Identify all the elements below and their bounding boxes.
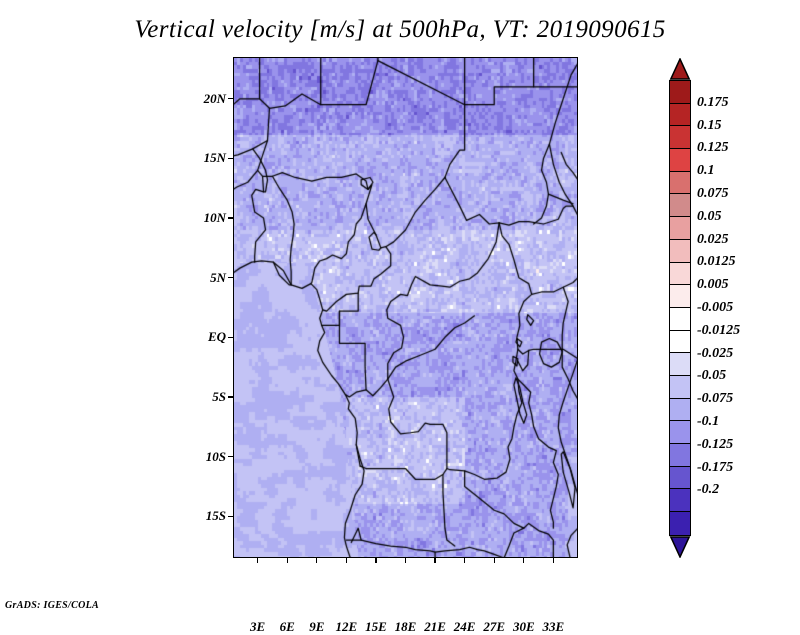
colorbar-band [670,512,690,535]
colorbar-bands [669,80,691,536]
x-axis-label: 9E [309,619,324,635]
x-tick-mark [287,558,288,563]
colorbar-band [670,467,690,490]
colorbar-tick-label: 0.15 [697,118,722,134]
colorbar-tick-label: -0.075 [697,391,733,407]
x-tick-mark [405,558,406,563]
colorbar-band [670,240,690,263]
colorbar-band [670,399,690,422]
colorbar-tick-label: 0.005 [697,277,729,293]
x-axis-label: 18E [395,619,417,635]
colorbar-band [670,376,690,399]
x-axis-label: 33E [543,619,565,635]
colorbar-tick-label: -0.0125 [697,323,740,339]
y-tick-mark [228,158,233,159]
x-axis-label: 3E [250,619,265,635]
x-tick-mark [375,558,376,563]
colorbar-band [670,353,690,376]
page-title: Vertical velocity [m/s] at 500hPa, VT: 2… [0,16,800,44]
x-axis-label: 21E [424,619,446,635]
y-axis-label: 10S [206,449,226,465]
colorbar-band [670,308,690,331]
colorbar-tick-label: 0.175 [697,95,729,111]
colorbar-tick-label: -0.005 [697,300,733,316]
x-axis-label: 30E [513,619,535,635]
colorbar: 0.1750.150.1250.10.0750.050.0250.01250.0… [669,58,691,558]
colorbar-band [670,285,690,308]
x-axis-label: 12E [336,619,358,635]
grads-attribution: GrADS: IGES/COLA [5,600,99,611]
colorbar-tick-label: 0.05 [697,209,722,225]
x-tick-mark [464,558,465,563]
x-tick-mark [434,558,435,563]
y-axis-label: 15S [206,508,226,524]
y-axis-label: 20N [204,91,226,107]
y-axis-label: 10N [204,210,226,226]
y-axis-label: EQ [208,329,226,345]
colorbar-tick-label: 0.025 [697,232,729,248]
colorbar-band [670,217,690,240]
colorbar-tick-label: -0.125 [697,437,733,453]
colorbar-min-arrow-icon [669,536,691,558]
colorbar-band [670,331,690,354]
colorbar-band [670,126,690,149]
y-axis-label: 5S [212,389,226,405]
y-tick-mark [228,396,233,397]
y-tick-mark [228,516,233,517]
colorbar-tick-label: 0.1 [697,163,715,179]
x-tick-mark [346,558,347,563]
x-axis-label: 27E [483,619,505,635]
x-axis-label: 15E [365,619,387,635]
colorbar-band [670,421,690,444]
colorbar-tick-label: -0.1 [697,414,719,430]
y-tick-mark [228,456,233,457]
colorbar-tick-label: -0.025 [697,346,733,362]
x-tick-mark [523,558,524,563]
colorbar-band [670,81,690,104]
x-tick-mark [257,558,258,563]
colorbar-band [670,489,690,512]
y-axis-label: 15N [204,150,226,166]
colorbar-band [670,444,690,467]
y-tick-mark [228,98,233,99]
y-tick-mark [228,337,233,338]
colorbar-band [670,263,690,286]
colorbar-band [670,149,690,172]
y-axis-label: 5N [210,270,226,286]
colorbar-band [670,172,690,195]
x-axis-label: 24E [454,619,476,635]
colorbar-max-arrow-icon [669,58,691,80]
map-plot-area: 3E6E9E12E15E18E21E24E27E30E33E 20N15N10N… [233,57,578,558]
colorbar-band [670,194,690,217]
x-tick-mark [494,558,495,563]
colorbar-tick-label: -0.05 [697,368,726,384]
vertical-velocity-heatmap [233,57,578,558]
y-tick-mark [228,217,233,218]
y-tick-mark [228,277,233,278]
x-axis-label: 6E [280,619,295,635]
colorbar-tick-label: 0.0125 [697,254,736,270]
colorbar-tick-label: 0.075 [697,186,729,202]
x-tick-mark [553,558,554,563]
colorbar-tick-label: -0.2 [697,482,719,498]
colorbar-tick-label: 0.125 [697,140,729,156]
x-tick-mark [316,558,317,563]
colorbar-band [670,104,690,127]
colorbar-tick-label: -0.175 [697,460,733,476]
